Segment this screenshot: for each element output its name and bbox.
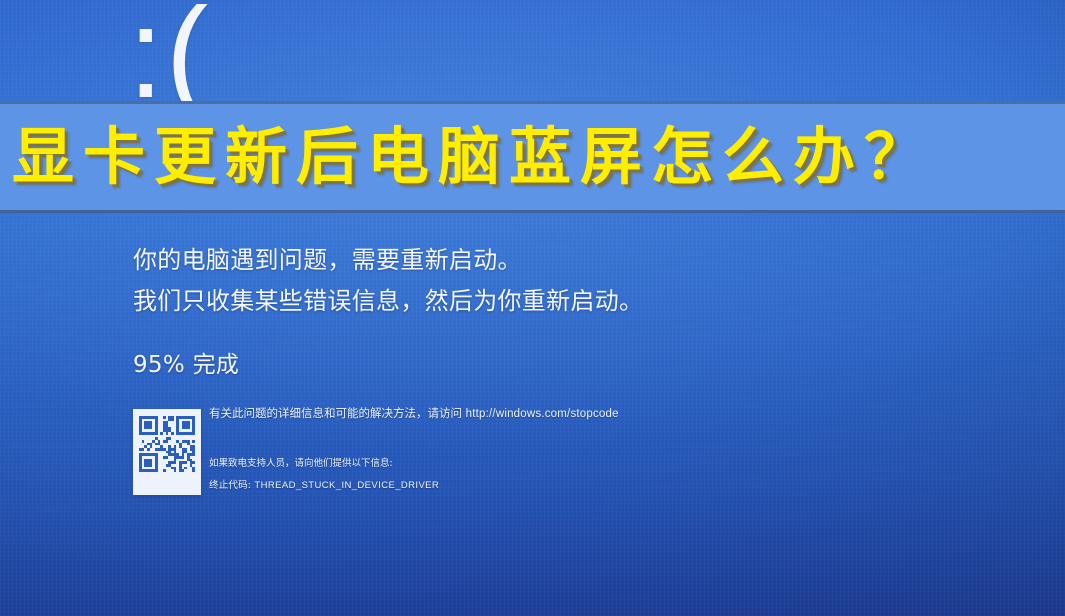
stopcode-label: 终止代码:	[209, 480, 254, 491]
bsod-fine-print: 有关此问题的详细信息和可能的解决方法，请访问 http://windows.co…	[209, 406, 729, 421]
stopcode-value: THREAD_STUCK_IN_DEVICE_DRIVER	[254, 480, 439, 491]
more-info-text: 有关此问题的详细信息和可能的解决方法，请访问	[209, 406, 466, 420]
qr-code-grid	[139, 416, 195, 472]
bsod-message-block: 你的电脑遇到问题，需要重新启动。 我们只收集某些错误信息，然后为你重新启动。	[133, 240, 643, 322]
support-info-line: 如果致电支持人员，请向他们提供以下信息:	[209, 458, 393, 470]
qr-code-icon	[133, 409, 201, 495]
more-info-line: 有关此问题的详细信息和可能的解决方法，请访问 http://windows.co…	[209, 406, 729, 421]
bsod-message-line-1: 你的电脑遇到问题，需要重新启动。	[133, 240, 643, 281]
bsod-screen: :( 你的电脑遇到问题，需要重新启动。 我们只收集某些错误信息，然后为你重新启动…	[0, 0, 1065, 616]
stopcode-line: 终止代码: THREAD_STUCK_IN_DEVICE_DRIVER	[209, 480, 439, 492]
banner-title: 显卡更新后电脑蓝屏怎么办？	[0, 124, 935, 190]
stopcode-link[interactable]: http://windows.com/stopcode	[466, 408, 619, 420]
bsod-message-line-2: 我们只收集某些错误信息，然后为你重新启动。	[133, 281, 643, 322]
bsod-progress-text: 95% 完成	[133, 350, 239, 380]
overlay-title-banner: 显卡更新后电脑蓝屏怎么办？	[0, 101, 1065, 213]
